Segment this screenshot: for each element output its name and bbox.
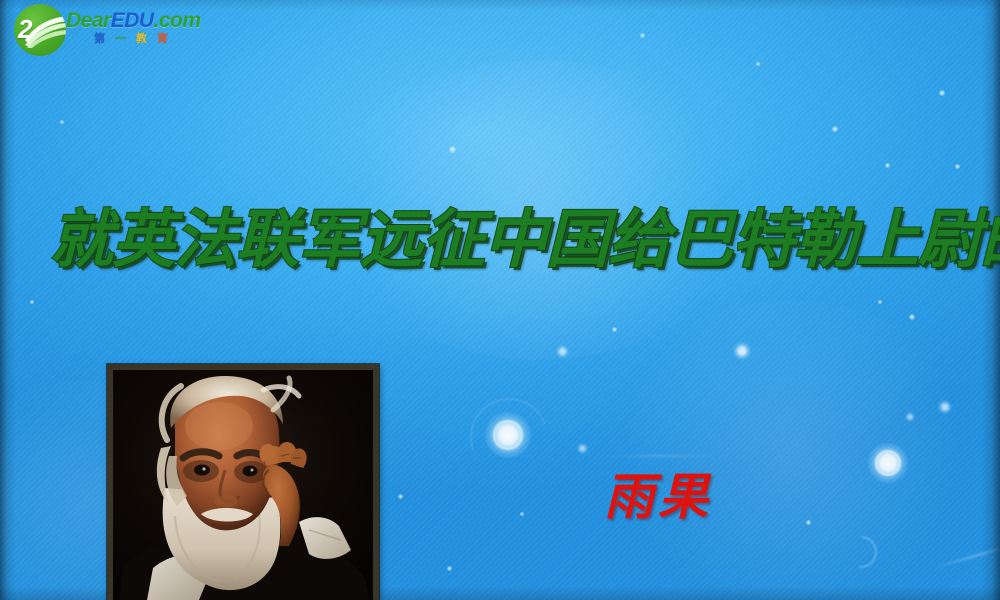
logo-subtitle-char: 育	[157, 33, 178, 45]
logo-word-com: .com	[154, 9, 201, 32]
victor-hugo-portrait-frame	[107, 364, 379, 600]
presentation-slide: 2 DearEDU.com 第一教育 就英法联军远征中国给巴特勒上尉的信	[0, 0, 1000, 600]
dearedu-logo[interactable]: 2 DearEDU.com 第一教育	[8, 2, 238, 58]
slide-title: 就英法联军远征中国给巴特勒上尉的信	[50, 207, 950, 273]
logo-subtitle-char: 第	[94, 33, 115, 45]
logo-word-dear: Dear	[66, 9, 111, 32]
logo-book-swoosh-icon	[24, 14, 66, 48]
portrait-illustration	[113, 370, 373, 600]
logo-subtitle-char: 一	[115, 33, 136, 45]
logo-word-edu: EDU	[111, 9, 154, 32]
logo-subtitle-char: 教	[136, 33, 157, 45]
author-name: 雨果	[604, 472, 712, 522]
logo-wordmark: DearEDU.com	[66, 10, 201, 31]
logo-circle-icon: 2	[14, 4, 66, 56]
victor-hugo-portrait-image	[113, 370, 373, 600]
logo-subtitle: 第一教育	[94, 34, 178, 45]
